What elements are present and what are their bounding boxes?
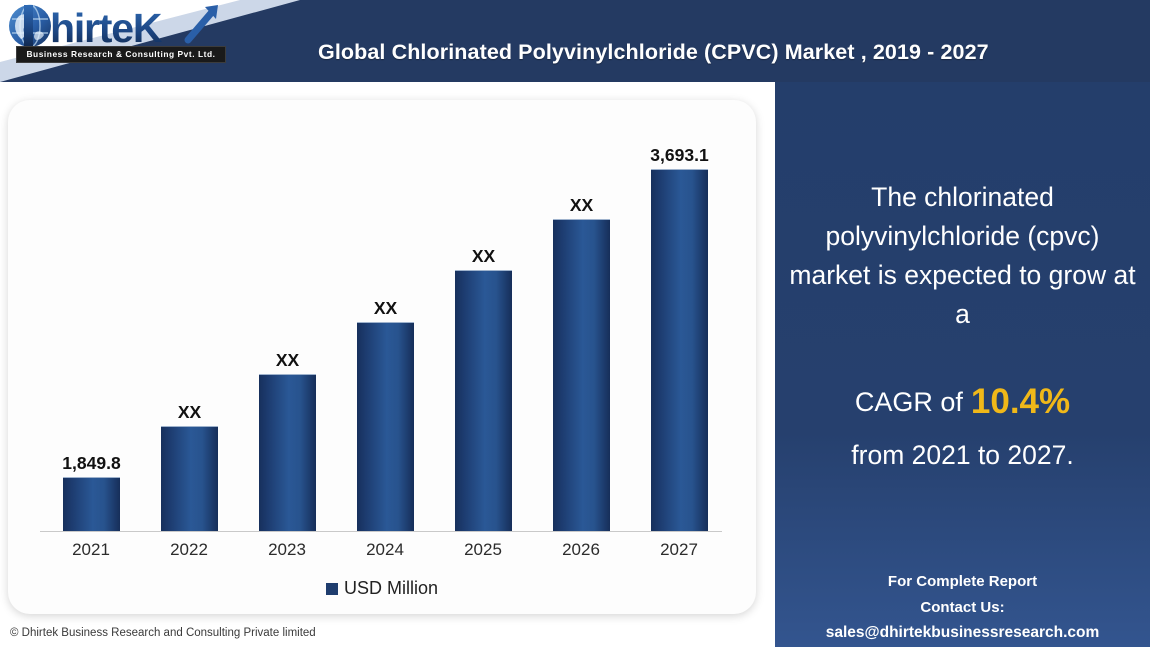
bar-value-label: 1,849.8 [39, 453, 144, 474]
contact-line-2: Contact Us: [775, 595, 1150, 621]
page-title: Global Chlorinated Polyvinylchloride (CP… [318, 40, 1138, 65]
x-tick-2021: 2021 [46, 540, 136, 560]
x-tick-2024: 2024 [340, 540, 430, 560]
logo-wordmark-icon: hirteK [6, 2, 234, 50]
side-panel: The chlorinated polyvinylchloride (cpvc)… [775, 82, 1150, 647]
bar-value-label: XX [431, 246, 536, 267]
bar-2025[interactable] [455, 270, 512, 531]
bar-2021[interactable] [63, 477, 120, 531]
company-logo[interactable]: hirteK Business Research & Consulting Pv… [6, 2, 234, 64]
bar-value-label: XX [529, 195, 634, 216]
contact-block: For Complete Report Contact Us: sales@dh… [775, 569, 1150, 646]
bar-value-label: XX [137, 402, 242, 423]
logo-tagline: Business Research & Consulting Pvt. Ltd. [16, 46, 226, 63]
x-tick-2026: 2026 [536, 540, 626, 560]
bar-2023[interactable] [259, 374, 316, 531]
cagr-prefix-label: CAGR of [855, 387, 963, 417]
copyright-notice: © Dhirtek Business Research and Consulti… [10, 627, 316, 639]
bar-2022[interactable] [161, 426, 218, 531]
x-tick-2022: 2022 [144, 540, 234, 560]
market-summary-text: The chlorinated polyvinylchloride (cpvc)… [783, 178, 1142, 334]
chart-legend: USD Million [8, 578, 756, 599]
bar-2024[interactable] [357, 322, 414, 531]
x-tick-2025: 2025 [438, 540, 528, 560]
contact-line-1: For Complete Report [775, 569, 1150, 595]
svg-text:hirteK: hirteK [50, 5, 163, 50]
bar-chart: 1,849.8 XX XX XX XX XX [8, 100, 756, 614]
bar-value-label: XX [333, 298, 438, 319]
x-tick-2023: 2023 [242, 540, 332, 560]
infographic-page: Global Chlorinated Polyvinylchloride (CP… [0, 0, 1150, 647]
chart-card: 1,849.8 XX XX XX XX XX [8, 100, 756, 614]
bar-value-label: 3,693.1 [627, 145, 732, 166]
cagr-value: 10.4% [971, 382, 1070, 421]
forecast-period-text: from 2021 to 2027. [783, 440, 1142, 471]
bar-2027[interactable] [651, 169, 708, 531]
bar-2026[interactable] [553, 219, 610, 531]
legend-swatch-icon [326, 583, 338, 595]
contact-email[interactable]: sales@dhirtekbusinessresearch.com [775, 620, 1150, 646]
cagr-line: CAGR of10.4% [783, 382, 1142, 422]
x-tick-2027: 2027 [634, 540, 724, 560]
bar-value-label: XX [235, 350, 340, 371]
legend-label: USD Million [344, 578, 438, 599]
x-axis-line [40, 531, 722, 532]
